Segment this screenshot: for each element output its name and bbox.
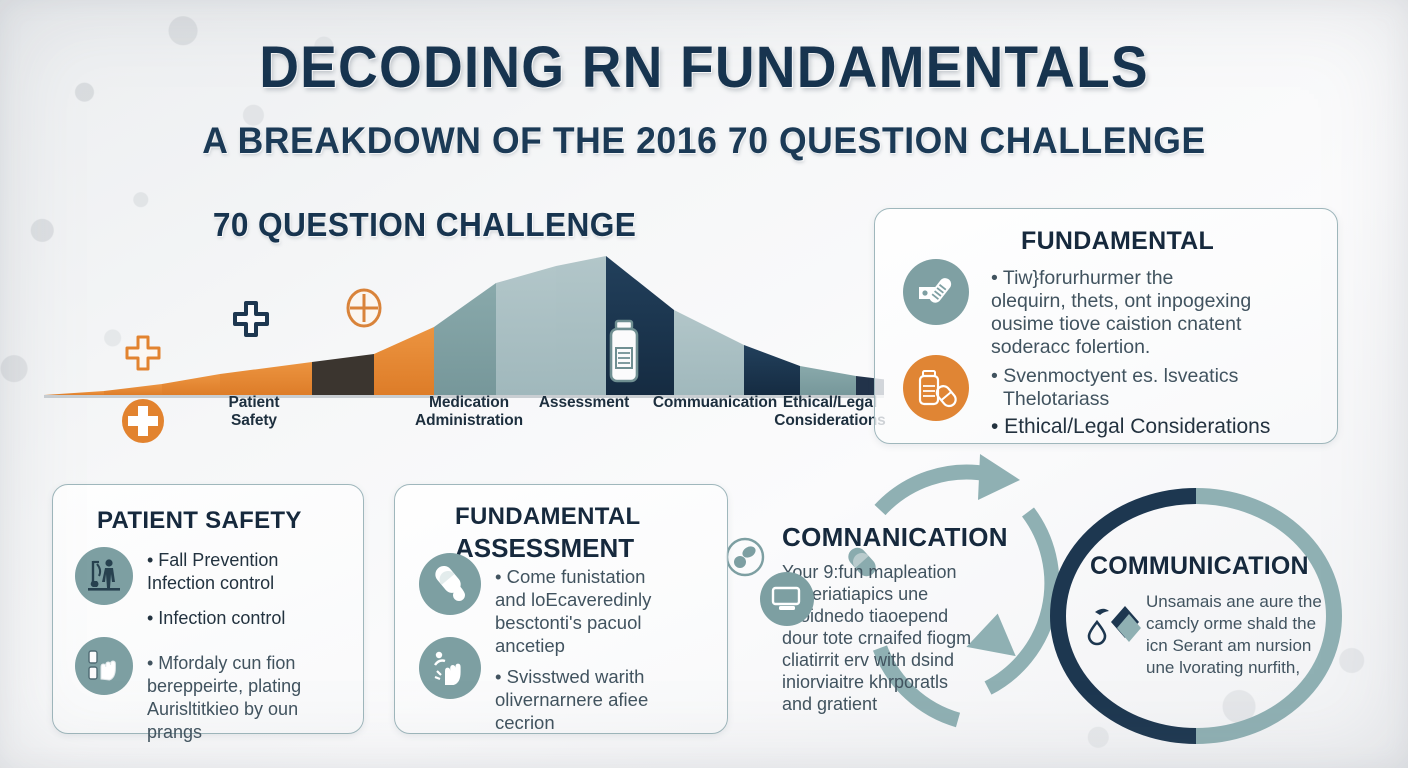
bandage-tag-icon (903, 259, 969, 325)
card-patient-safety-title: PATIENT SAFETY (97, 507, 302, 535)
card-assessment-title-line2: ASSESSMENT (455, 533, 634, 564)
hand-wash-icon (419, 637, 481, 699)
communication-ring-text: COMMUNICATION Unsamais ane aure the camc… (1090, 552, 1346, 679)
capsule-drop-icon (419, 553, 481, 615)
cross-outline-navy-icon (230, 298, 272, 340)
communication-ring-title: COMMUNICATION (1090, 552, 1346, 581)
communication-cycle-title: COMNANICATION (782, 522, 1018, 553)
communication-ring-bullets: Unsamais ane aure the camcly orme shald … (1146, 591, 1346, 679)
axis-label-patient-safety: Patient Safety (194, 394, 314, 430)
vial-capsule-icon (903, 355, 969, 421)
fall-prevention-icon (75, 547, 133, 605)
card-patient-safety-bullets: • Fall Prevention Infection control • In… (147, 549, 355, 744)
card-fundamental-title: FUNDAMENTAL (1021, 227, 1214, 256)
question-challenge-chart: 70 QUESTION CHALLENGE (44, 206, 884, 446)
infographic-canvas: DECODING RN FUNDAMENTALS A BREAKDOWN OF … (0, 0, 1408, 768)
card-patient-safety: PATIENT SAFETY • Fall Prevention Infecti… (52, 484, 364, 734)
communication-cycle-text: COMNANICATION Your 9:fun mapleation ande… (782, 522, 1018, 715)
hand-hygiene-icon (75, 637, 133, 695)
medical-badge-orange-icon (342, 286, 386, 330)
page-title: DECODING RN FUNDAMENTALS (35, 34, 1373, 101)
pills-circle-icon (724, 536, 766, 578)
cross-outline-orange-icon (122, 332, 164, 374)
chart-axis-labels: Patient Safety Medication Administration… (44, 394, 884, 450)
chart-title: 70 QUESTION CHALLENGE (213, 206, 636, 244)
card-fundamental-assessment: FUNDAMENTAL ASSESSMENT • Come funistatio… (394, 484, 728, 734)
page-subtitle: A BREAKDOWN OF THE 2016 70 QUESTION CHAL… (28, 120, 1380, 162)
card-assessment-bullets: • Come funistation and loEcaveredinly be… (495, 565, 721, 734)
vial-icon (604, 318, 644, 386)
communication-cycle-bullets: Your 9:fun mapleation anderiatiapics une… (782, 561, 1002, 715)
chart-bars (44, 250, 884, 400)
screen-share-icon (760, 572, 814, 626)
card-assessment-title-line1: FUNDAMENTAL (455, 503, 641, 531)
card-fundamental: FUNDAMENTAL • (874, 208, 1338, 444)
card-fundamental-bullets: • Tiw}forurhurmer the olequirn, thets, o… (991, 267, 1327, 438)
